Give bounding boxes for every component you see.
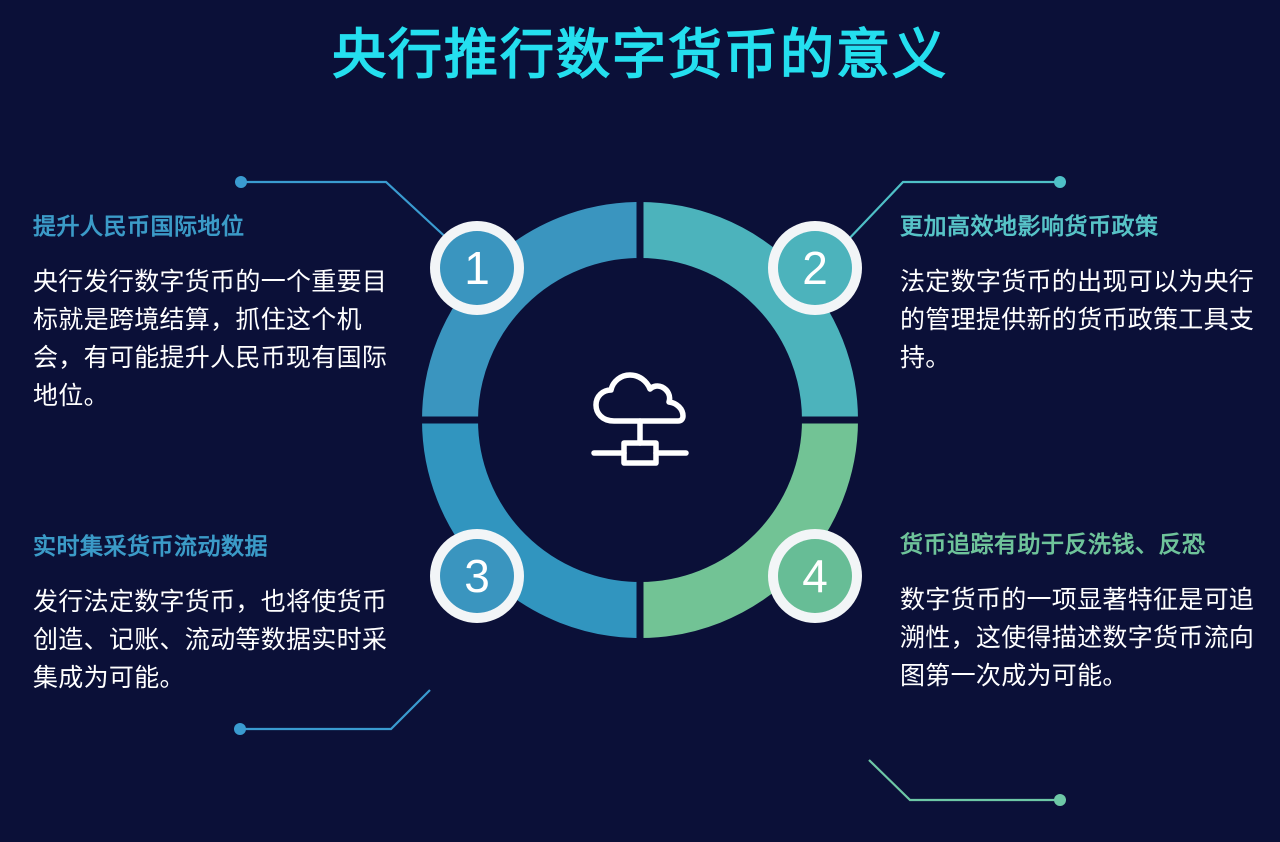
badge-1-number: 1 [440, 231, 514, 305]
item-3-heading: 实时集采货币流动数据 [33, 530, 393, 563]
item-block-3: 实时集采货币流动数据 发行法定数字货币，也将使货币创造、记账、流动等数据实时采集… [33, 530, 393, 697]
connector-line-3 [234, 690, 430, 735]
item-block-4: 货币追踪有助于反洗钱、反恐 数字货币的一项显著特征是可追溯性，这使得描述数字货币… [900, 528, 1260, 695]
page-title: 央行推行数字货币的意义 [0, 22, 1280, 90]
item-4-body: 数字货币的一项显著特征是可追溯性，这使得描述数字货币流向图第一次成为可能。 [900, 581, 1260, 695]
badge-3-number: 3 [440, 539, 514, 613]
item-2-body: 法定数字货币的出现可以为央行的管理提供新的货币政策工具支持。 [900, 263, 1260, 377]
connector-line-4 [869, 760, 1066, 806]
item-1-heading: 提升人民币国际地位 [33, 210, 393, 243]
badge-2-number: 2 [778, 231, 852, 305]
infographic-canvas: 央行推行数字货币的意义 [0, 0, 1280, 842]
item-4-heading: 货币追踪有助于反洗钱、反恐 [900, 528, 1260, 561]
badge-1[interactable]: 1 [430, 221, 524, 315]
item-2-heading: 更加高效地影响货币政策 [900, 210, 1260, 243]
item-block-1: 提升人民币国际地位 央行发行数字货币的一个重要目标就是跨境结算，抓住这个机会，有… [33, 210, 393, 415]
badge-3[interactable]: 3 [430, 529, 524, 623]
item-1-body: 央行发行数字货币的一个重要目标就是跨境结算，抓住这个机会，有可能提升人民币现有国… [33, 263, 393, 415]
item-3-body: 发行法定数字货币，也将使货币创造、记账、流动等数据实时采集成为可能。 [33, 583, 393, 697]
badge-4[interactable]: 4 [768, 529, 862, 623]
item-block-2: 更加高效地影响货币政策 法定数字货币的出现可以为央行的管理提供新的货币政策工具支… [900, 210, 1260, 377]
badge-4-number: 4 [778, 539, 852, 613]
badge-2[interactable]: 2 [768, 221, 862, 315]
cloud-network-icon [580, 365, 700, 475]
